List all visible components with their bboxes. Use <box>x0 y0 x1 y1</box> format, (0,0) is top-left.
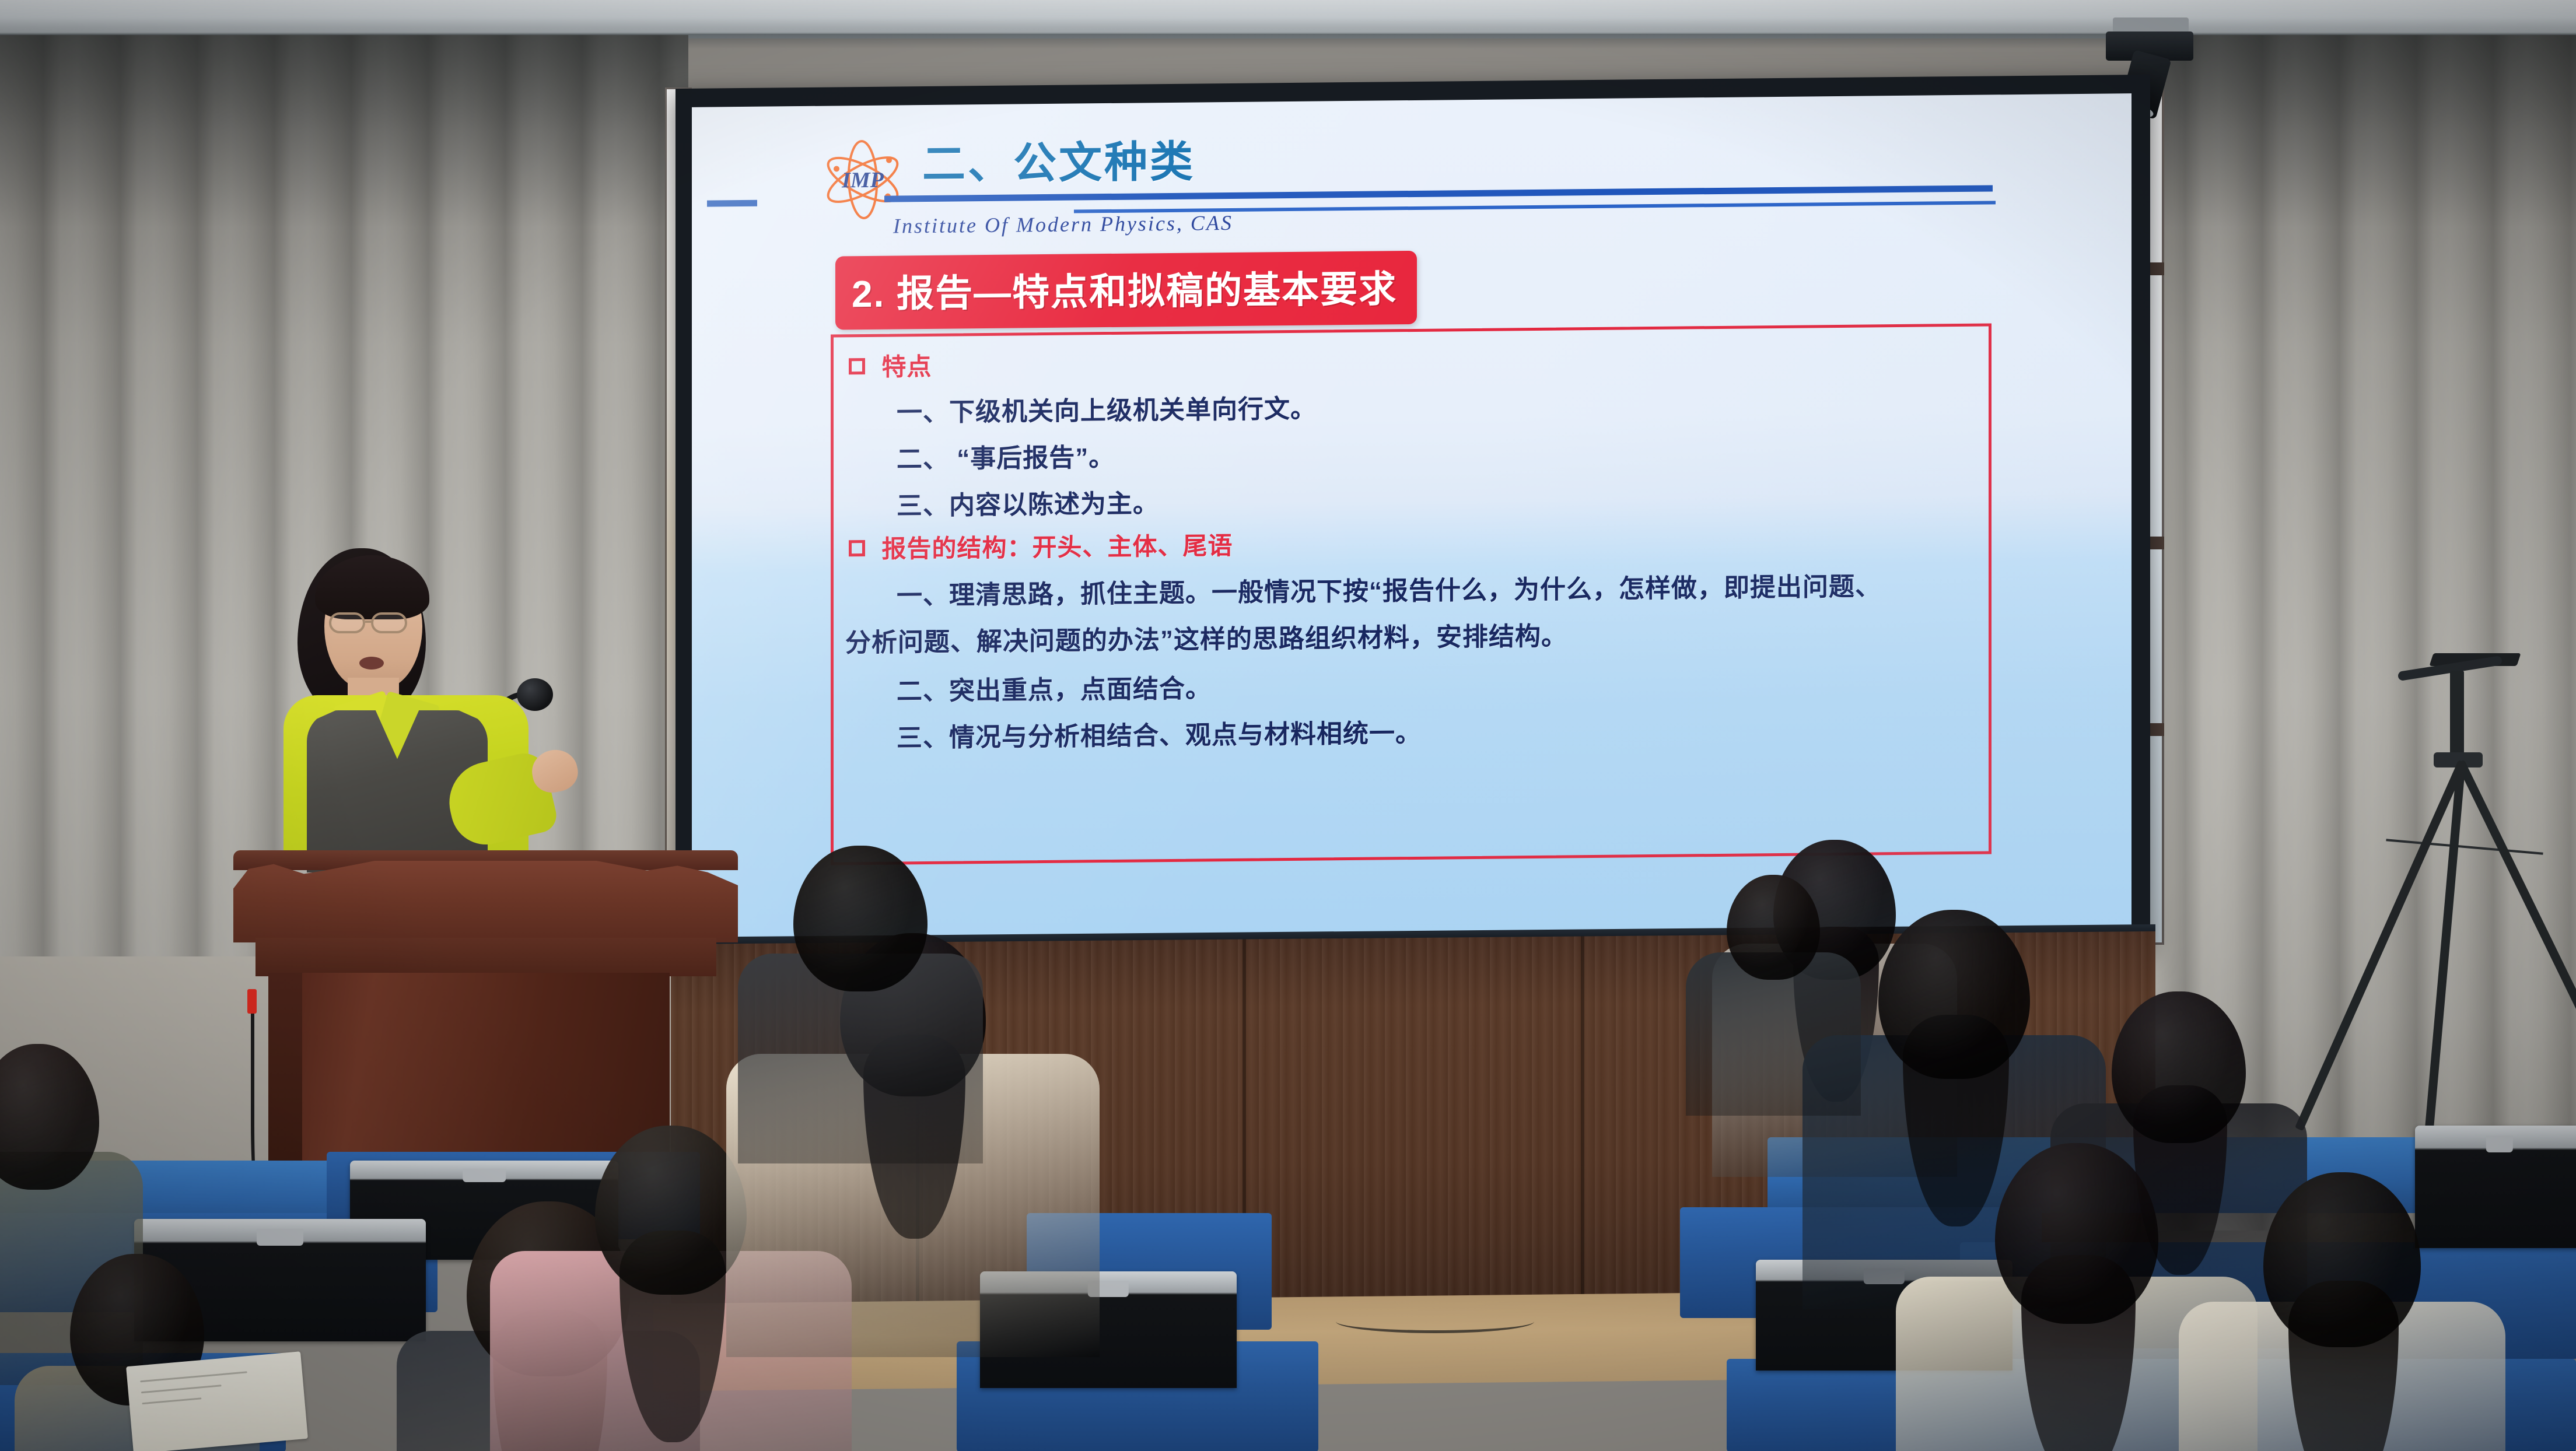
content-item: 一、理清思路，抓住主题。一般情况下按“报告什么，为什么，怎样做，即提出问题、 <box>897 565 1881 612</box>
presentation-slide: IMP 二、公文种类 Institute Of Modern Physics, … <box>692 93 2131 941</box>
audience-cream-coat-head <box>1995 1143 2158 1324</box>
content-item: 三、内容以陈述为主。 <box>897 482 1159 522</box>
slide-header-title: 二、公文种类 <box>922 127 1195 192</box>
heading-text: 报告的结构：开头、主体、尾语 <box>881 532 1233 563</box>
content-heading-features: 特点 <box>849 347 932 383</box>
audience-center-far-head <box>1727 875 1820 980</box>
header-dash <box>707 200 757 207</box>
slide-banner-label: 2. 报告—特点和拟稿的基本要求 <box>852 268 1397 315</box>
audience-ponytail-tie-head <box>2263 1172 2421 1347</box>
desk-back <box>2415 1126 2576 1248</box>
glasses-icon <box>371 612 407 633</box>
slide-subtitle: Institute Of Modern Physics, CAS <box>893 211 1233 239</box>
presenter <box>257 542 583 869</box>
square-bullet-icon <box>849 358 865 374</box>
camera-tripod <box>2362 653 2561 1166</box>
slide-banner: 2. 报告—特点和拟稿的基本要求 <box>835 251 1417 330</box>
floor-cable <box>1336 1310 1534 1333</box>
square-bullet-icon <box>849 540 865 556</box>
heading-text: 特点 <box>881 353 932 381</box>
glasses-icon <box>329 612 365 633</box>
audience-pink-sweater-head <box>595 1126 747 1295</box>
audience-dark-jacket-head <box>793 846 928 991</box>
notebook <box>126 1351 308 1451</box>
slide-content-box: 特点 一、下级机关向上级机关单向行文。 二、 “事后报告”。 三、内容以陈述为主… <box>831 323 1992 865</box>
content-item: 二、突出重点，点面结合。 <box>897 667 1212 707</box>
cable-tag <box>247 989 257 1014</box>
content-item: 三、情况与分析相结合、观点与材料相统一。 <box>897 712 1422 755</box>
presenter-mouth <box>359 657 384 670</box>
content-heading-structure: 报告的结构：开头、主体、尾语 <box>849 526 1233 565</box>
audience-navy-longhair-head <box>1878 910 2030 1079</box>
lecture-hall-photo: IMP 二、公文种类 Institute Of Modern Physics, … <box>0 0 2576 1451</box>
imp-logo-icon: IMP <box>819 135 907 223</box>
svg-text:IMP: IMP <box>841 168 884 193</box>
projection-screen: IMP 二、公文种类 Institute Of Modern Physics, … <box>692 93 2131 941</box>
content-item: 一、下级机关向上级机关单向行文。 <box>897 388 1317 429</box>
audience-back-right-head <box>2112 991 2246 1143</box>
content-item: 二、 “事后报告”。 <box>897 436 1115 476</box>
glasses-bridge <box>365 621 373 623</box>
content-item: 分析问题、解决问题的办法”这样的思路组织材料，安排结构。 <box>845 615 1567 659</box>
